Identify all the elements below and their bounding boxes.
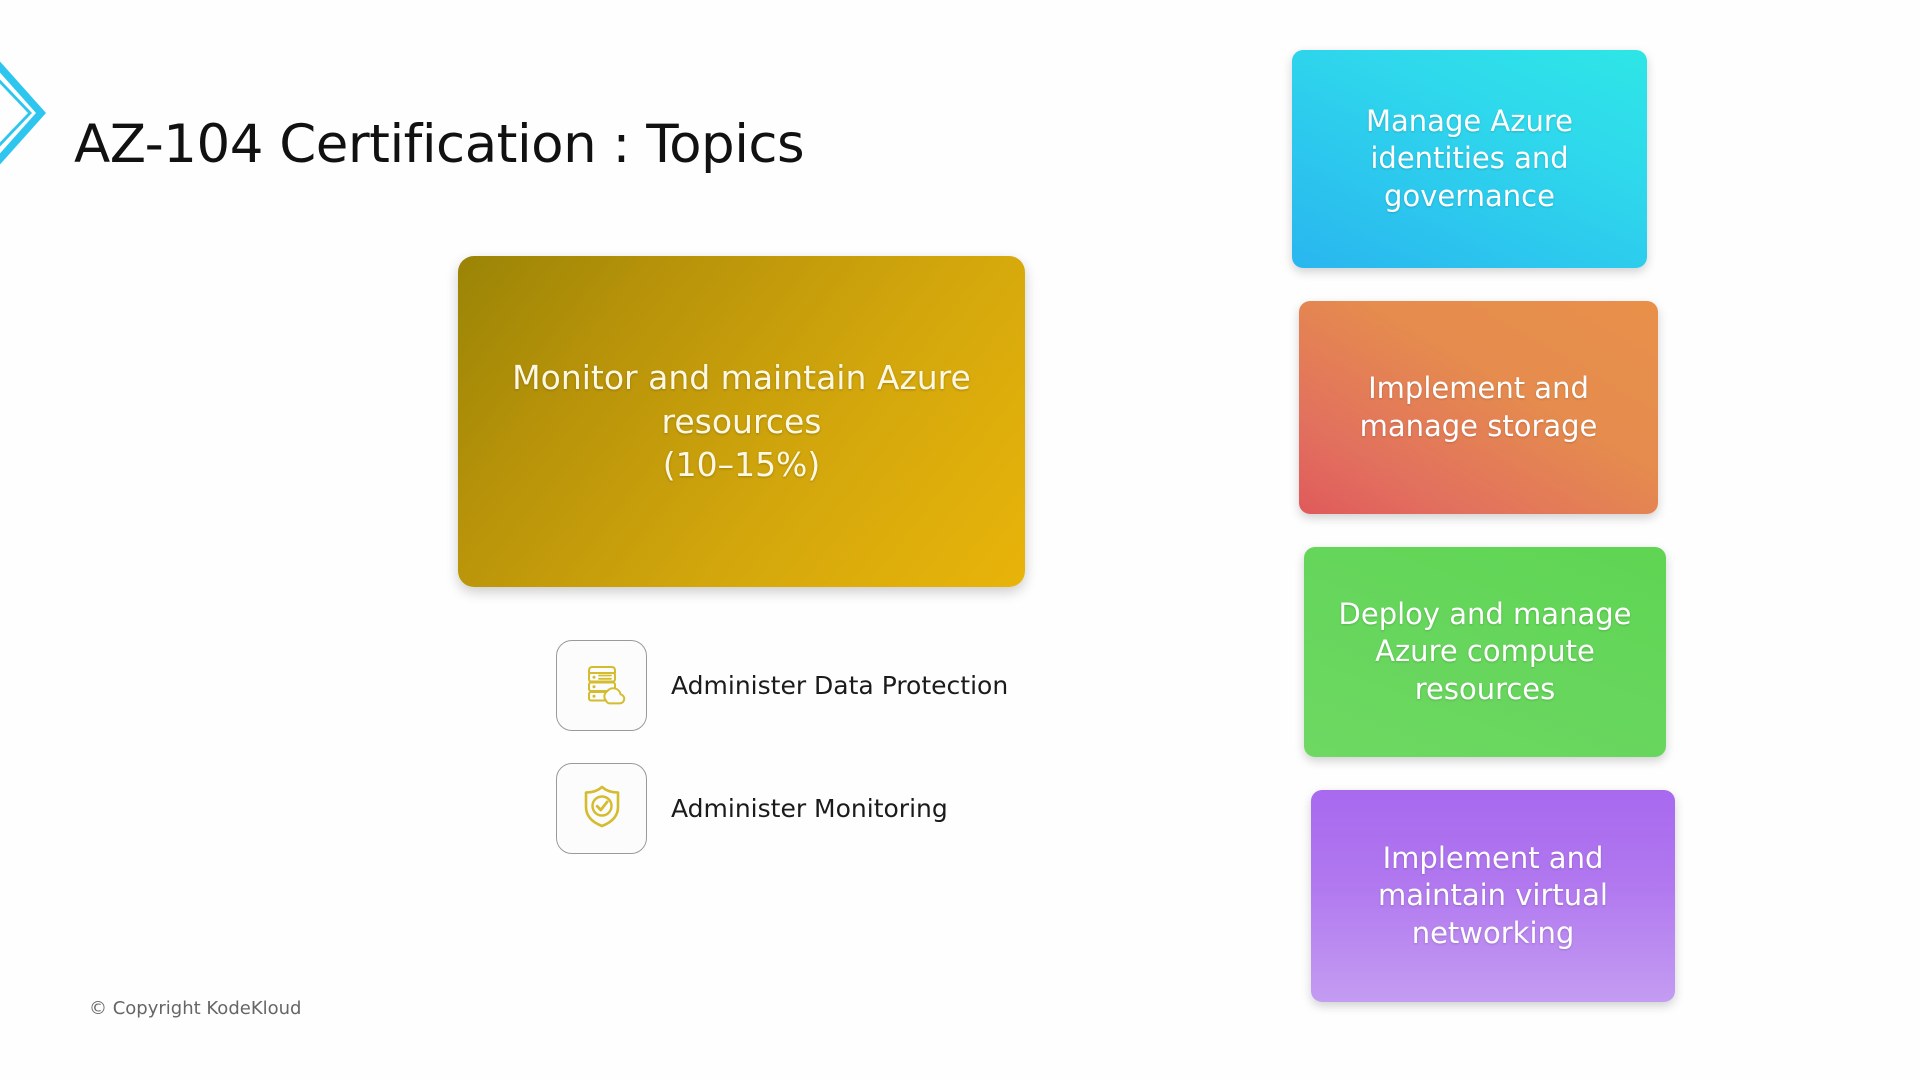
sub-topic-list: Administer Data Protection Administer Mo… [556, 640, 1008, 886]
slide-canvas: AZ-104 Certification : Topics Monitor an… [0, 0, 1920, 1080]
domain-card-storage[interactable]: Implement and manage storage [1299, 301, 1658, 514]
domain-card-column: Manage Azure identities and governance I… [1292, 50, 1672, 1035]
chevron-right-icon [0, 55, 48, 171]
copyright-notice: © Copyright KodeKloud [89, 998, 301, 1019]
domain-card-label: Deploy and manage Azure compute resource… [1304, 596, 1666, 707]
sub-topic-icon-box [556, 763, 647, 854]
list-item-label: Administer Data Protection [671, 671, 1008, 700]
domain-card-label: Implement and maintain virtual networkin… [1311, 840, 1675, 951]
sub-topic-icon-box [556, 640, 647, 731]
shield-check-icon [576, 780, 628, 837]
page-title: AZ-104 Certification : Topics [74, 114, 804, 175]
domain-card-label: Implement and manage storage [1299, 370, 1658, 444]
list-item[interactable]: Administer Data Protection [556, 640, 1008, 730]
list-item-label: Administer Monitoring [671, 794, 948, 823]
domain-card-networking[interactable]: Implement and maintain virtual networkin… [1311, 790, 1675, 1002]
main-topic-card-label: Monitor and maintain Azure resources (10… [482, 356, 1001, 487]
domain-card-compute[interactable]: Deploy and manage Azure compute resource… [1304, 547, 1666, 757]
list-item[interactable]: Administer Monitoring [556, 763, 1008, 853]
server-stack-cloud-icon [576, 657, 628, 714]
domain-card-identities[interactable]: Manage Azure identities and governance [1292, 50, 1647, 268]
main-topic-card[interactable]: Monitor and maintain Azure resources (10… [458, 256, 1025, 587]
domain-card-label: Manage Azure identities and governance [1292, 103, 1647, 214]
